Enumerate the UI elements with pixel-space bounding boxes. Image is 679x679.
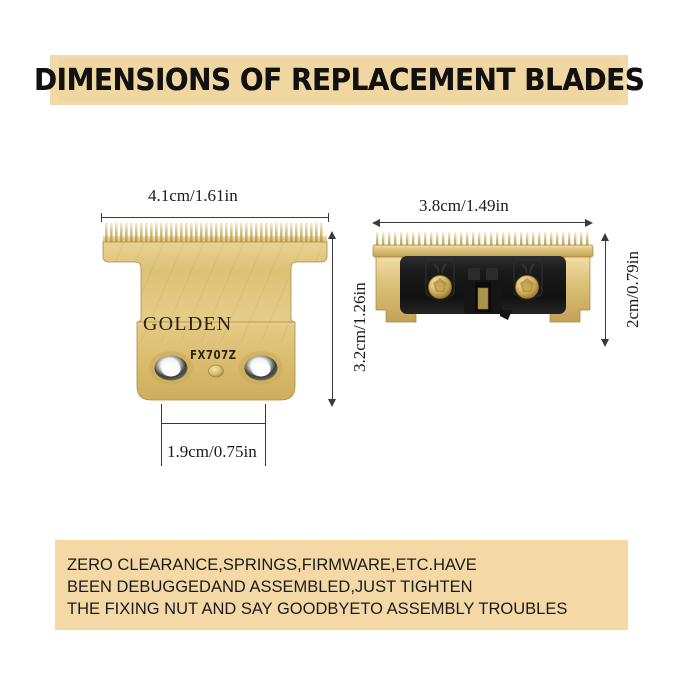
right-blade-screw-right [513, 273, 541, 301]
right-blade-plastic-carrier [400, 256, 566, 314]
left-blade-brand-text: GOLDEN [143, 313, 232, 336]
page-title: DIMENSIONS OF REPLACEMENT BLADES [34, 63, 644, 98]
left-blade-height-label: 3.2cm/1.26in [350, 282, 370, 372]
hole-spacing-rule [161, 423, 266, 424]
left-blade-height-arrow-top [328, 231, 336, 239]
right-blade-width-arrow-right [585, 219, 593, 227]
left-blade-center-stud [209, 365, 224, 377]
note-line-3: THE FIXING NUT AND SAY GOODBYETO ASSEMBL… [67, 598, 628, 620]
left-blade-width-tick-end [328, 213, 329, 222]
left-blade-screw-hole-right [239, 351, 283, 385]
right-blade-screw-left [426, 273, 454, 301]
right-blade-width-label: 3.8cm/1.49in [419, 196, 509, 216]
right-blade-figure [372, 232, 594, 340]
right-blade-bottom-tab [500, 310, 512, 320]
left-blade-teeth [103, 222, 327, 244]
hole-spacing-extension-left [161, 404, 162, 466]
left-blade-width-tick-start [101, 213, 102, 222]
note-line-1: ZERO CLEARANCE,SPRINGS,FIRMWARE,ETC.HAVE [67, 554, 628, 576]
left-blade-model-text: FX707Z [190, 348, 237, 362]
right-blade-height-arrow-bottom [601, 339, 609, 347]
left-blade-width-label: 4.1cm/1.61in [148, 186, 238, 206]
note-line-2: BEEN DEBUGGEDAND ASSEMBLED,JUST TIGHTEN [67, 576, 628, 598]
right-blade-height-arrow-top [601, 233, 609, 241]
right-blade-height-label: 2cm/0.79in [623, 251, 643, 328]
left-blade-width-rule [101, 217, 329, 218]
hole-spacing-extension-right [265, 404, 266, 466]
left-blade-screw-hole-left [149, 351, 193, 385]
note-panel: ZERO CLEARANCE,SPRINGS,FIRMWARE,ETC.HAVE… [55, 540, 628, 630]
title-banner: DIMENSIONS OF REPLACEMENT BLADES [50, 55, 628, 105]
left-blade-height-rule [332, 238, 333, 400]
left-blade-height-arrow-bottom [328, 399, 336, 407]
right-blade-height-rule [605, 240, 606, 340]
right-blade-width-rule [380, 222, 585, 223]
right-blade-width-arrow-left [372, 219, 380, 227]
left-blade-hole-spacing-label: 1.9cm/0.75in [167, 442, 257, 462]
